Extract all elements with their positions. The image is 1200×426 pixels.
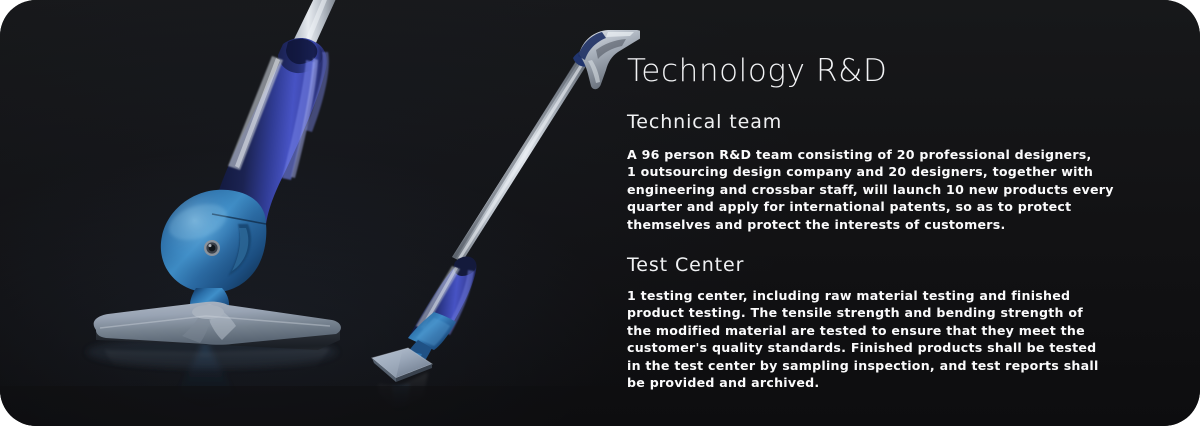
section-body-technical-team: A 96 person R&D team consisting of 20 pr… (627, 146, 1159, 233)
mop2-reservoir (408, 256, 476, 350)
technology-rd-banner: Technology R&D Technical team A 96 perso… (0, 0, 1200, 426)
text-content: Technology R&D Technical team A 96 perso… (627, 0, 1167, 426)
mop1-bulb (161, 190, 266, 293)
page-title: Technology R&D (627, 54, 887, 88)
product-artwork (0, 0, 640, 426)
mop2-pole (452, 52, 593, 262)
product-spray-mop-closeup (87, 0, 341, 408)
section-heading-technical-team: Technical team (627, 112, 782, 134)
section-heading-test-center: Test Center (627, 255, 744, 277)
section-body-test-center: 1 testing center, including raw material… (627, 287, 1137, 391)
product-spray-mop-full (372, 30, 640, 412)
